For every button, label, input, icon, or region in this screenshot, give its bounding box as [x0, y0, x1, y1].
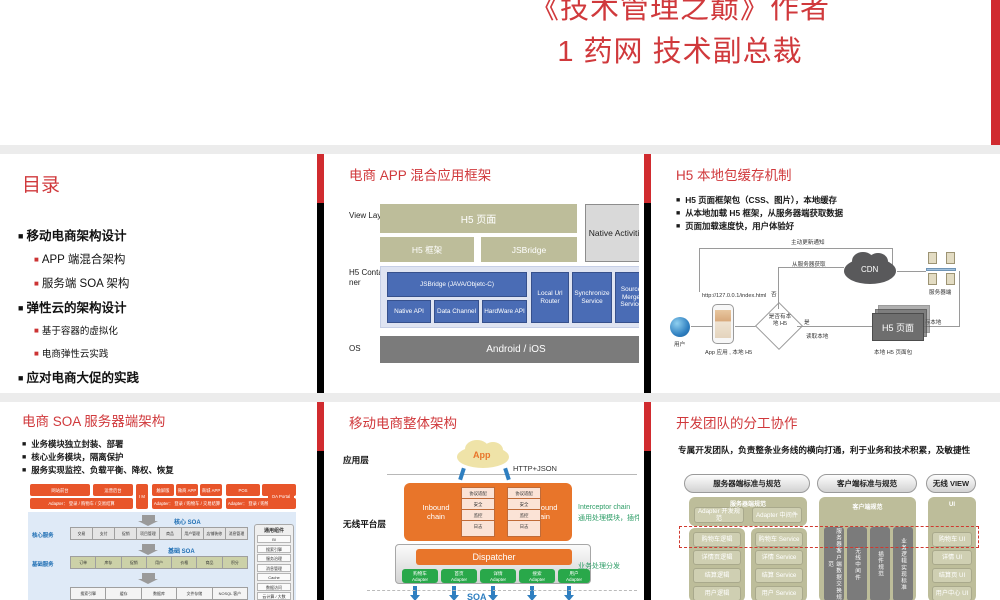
soa-top-box-7[interactable]: POS [226, 484, 260, 496]
slide-deck-overview: 《技术管理之巅》作者 1 药网 技术副总裁 目录 移动电商架构设计 APP 端混… [0, 0, 1000, 600]
inbound-item-2[interactable]: 安全 [462, 499, 494, 510]
item-logic-user[interactable]: 用户逻辑 [693, 586, 741, 600]
soa-core-cells[interactable]: 交易 支付 促销 项目管理 商品 用户管理 店铺装修 消息管理 [70, 527, 248, 540]
toc-item-4[interactable]: 弹性云的架构设计 [18, 296, 139, 320]
base-cell-1[interactable]: 订单 [71, 557, 96, 568]
toc-item-6[interactable]: 电商弹性云实践 [18, 343, 139, 366]
label-server-cluster: 服务器端 [929, 288, 951, 296]
divider-b1-black [317, 451, 324, 600]
line-yes-right [797, 326, 873, 327]
adapter-cart[interactable]: 购物车 Adapter [402, 569, 438, 583]
panel-mobile-overall-architecture[interactable]: 移动电商整体架构 应用层 无线平台层 App HTTP+JSON Inbound… [327, 402, 639, 600]
h5-container-wrap: JSBridge (JAVA/Objetc-C) Native API Data… [380, 266, 639, 328]
soa-row-label-core: 核心服务 [32, 531, 54, 539]
core-cell-7[interactable]: 店铺装修 [204, 528, 226, 539]
inbound-item-4[interactable]: 日志 [462, 521, 494, 532]
label-fetch-server: 从服务器获取 [792, 260, 826, 268]
item-logic-detail[interactable]: 详情页逻辑 [693, 550, 741, 565]
server-icon-2 [946, 252, 955, 264]
divider-a2-black [644, 203, 651, 393]
soa-base-cells[interactable]: 订单 库存 促销 用户 价格 商品 积分 [70, 556, 248, 569]
bottom-cell-1[interactable]: 搜索引擎 [71, 588, 106, 599]
outbound-chain-items[interactable]: 协议适配 安全 监控 日志 [507, 487, 541, 537]
item-logic-checkout[interactable]: 结算逻辑 [693, 568, 741, 583]
base-cell-5[interactable]: 价格 [172, 557, 197, 568]
soa-separator-line [367, 590, 637, 591]
outbound-item-4[interactable]: 日志 [508, 521, 540, 532]
cap-client-standards[interactable]: 客户端标准与规范 [817, 474, 917, 493]
line-server-down [959, 271, 960, 326]
common-component-7[interactable]: 云计算 / 大数 [257, 592, 291, 600]
bracket-left [699, 248, 700, 292]
note-interceptor-en: Interceptor chain [578, 503, 630, 513]
soa-title: 电商 SOA 服务器端架构 [22, 414, 165, 430]
soa-top-box-1[interactable]: 网站前台 [30, 484, 90, 496]
soa-bullet-2: 核心业务模块，隔离保护 [22, 451, 174, 464]
bracket-top [699, 248, 893, 249]
item-adapter-dev-spec[interactable]: Adapter 开发规范 [694, 507, 744, 523]
soa-top-box-5[interactable]: 微商 APP [176, 484, 198, 496]
item-service-detail[interactable]: 详情 Service [755, 550, 803, 565]
soa-top-box-2[interactable]: 运营后台 [93, 484, 133, 496]
label-inbound-chain: Inbound chain [416, 503, 456, 521]
bottom-cell-2[interactable]: 缓存 [106, 588, 141, 599]
bottom-cell-5[interactable]: NOSQL 客户 [213, 588, 247, 599]
label-protocol: HTTP+JSON [513, 464, 557, 473]
divider-b2-black [644, 451, 651, 600]
h5-bullet-3: 页面加载速度快，用户体验好 [676, 220, 843, 233]
soa-arrow-2-head [138, 550, 158, 555]
box-os[interactable]: Android / iOS [380, 336, 639, 363]
box-source-merge-service[interactable]: Source Merge Service [615, 272, 639, 323]
panel-soa-server-architecture[interactable]: 电商 SOA 服务器端架构 业务模块独立封装、部署 核心业务模块，隔离保护 服务… [0, 402, 312, 600]
toc-item-2[interactable]: APP 端混合架构 [18, 248, 139, 272]
base-cell-2[interactable]: 库存 [96, 557, 121, 568]
chain-block[interactable]: Inbound chain Outbound chain 协议适配 安全 监控 … [404, 483, 572, 541]
dispatcher-bar[interactable]: Dispatcher [416, 549, 572, 565]
soa-top-box-9[interactable]: OA Portal [268, 484, 294, 509]
soa-tag-core: 核心 SOA [174, 517, 201, 526]
soa-bullet-1: 业务模块独立封装、部署 [22, 438, 174, 451]
row-gap-bottom [0, 393, 1000, 402]
label-h5-caption: 本地 H5 页面包 [874, 348, 912, 356]
toc-list: 移动电商架构设计 APP 端混合架构 服务端 SOA 架构 弹性云的架构设计 基… [18, 224, 139, 390]
phone-screen [715, 310, 731, 338]
soa-arrow-3-head [138, 579, 158, 584]
h5-cache-bullets: H5 页面框架包（CSS、图片），本地缓存 从本地加载 H5 框架，从服务器端获… [676, 194, 843, 233]
app-cloud-label: App [473, 450, 491, 460]
group-ui [928, 497, 976, 600]
item-service-checkout[interactable]: 结算 Service [755, 568, 803, 583]
note-dispatch: 业务处理分发 [578, 562, 620, 572]
group-title-ui: UI [928, 502, 976, 508]
inbound-chain-items[interactable]: 协议适配 安全 监控 日志 [461, 487, 495, 537]
soa-bullet-3: 服务实现监控、负载平衡、降权、恢复 [22, 464, 174, 477]
hero-text-block: 《技术管理之巅》作者 1 药网 技术副总裁 [420, 0, 940, 74]
base-cell-7[interactable]: 积分 [223, 557, 247, 568]
panel-h5-cache[interactable]: H5 本地包缓存机制 H5 页面框架包（CSS、图片），本地缓存 从本地加载 H… [654, 154, 1000, 393]
item-ui-user-center[interactable]: 用户中心 UI [932, 586, 972, 600]
core-cell-5[interactable]: 商品 [160, 528, 182, 539]
soa-top-box-3[interactable]: I M [136, 484, 148, 509]
h5-bullet-2: 从本地加载 H5 框架，从服务器端获取数据 [676, 207, 843, 220]
hero-line-1: 《技术管理之巅》作者 [420, 0, 940, 31]
toc-item-5[interactable]: 基于容器的虚拟化 [18, 320, 139, 343]
toc-title: 目录 [22, 170, 60, 197]
core-cell-4[interactable]: 项目管理 [137, 528, 159, 539]
soa-arrowhead-2 [449, 595, 459, 600]
soa-top-box-4[interactable]: 触屏版 [152, 484, 174, 496]
divider-b2-red [644, 402, 651, 451]
item-ui-checkout[interactable]: 结算页 UI [932, 568, 972, 583]
hero-accent-bar [991, 0, 1000, 145]
soa-arrowhead-3 [488, 595, 498, 600]
label-app-caption: App 应用 , 本地 H5 [705, 348, 752, 356]
h5-cache-diagram: 主动更新通知 用户 http://127.0.0.1/index.html Ap… [654, 240, 1000, 390]
soa-figure: 网站前台 运营后台 Adapter： 登录 / 购物车 / 交易结算 I M 触… [28, 484, 296, 600]
outbound-item-3[interactable]: 监控 [508, 510, 540, 521]
box-h5-page[interactable]: H5 页面 [380, 204, 577, 233]
hero-line-2: 1 药网 技术副总裁 [420, 31, 940, 74]
divider-a2-red [644, 154, 651, 203]
box-synchronize-service[interactable]: Synchronize Service [572, 272, 612, 323]
label-soa: SOA [467, 592, 487, 600]
row-gap-top [0, 145, 1000, 154]
base-cell-4[interactable]: 用户 [147, 557, 172, 568]
adapter-home[interactable]: 首页 Adapter [441, 569, 477, 583]
inbound-item-1[interactable]: 协议适配 [462, 488, 494, 499]
h5-bullet-1: H5 页面框架包（CSS、图片），本地缓存 [676, 194, 843, 207]
base-cell-6[interactable]: 商品 [197, 557, 222, 568]
hybrid-framework-title: 电商 APP 混合应用框架 [349, 168, 491, 184]
divider-a1-black [317, 203, 324, 393]
highlight-cart-row [679, 526, 979, 548]
label-push-notify: 主动更新通知 [791, 238, 825, 246]
box-h5-framework[interactable]: H5 框架 [380, 237, 474, 262]
bottom-cell-3[interactable]: 数据库 [142, 588, 177, 599]
server-icon-1 [928, 252, 937, 264]
soa-top-box-6[interactable]: 商城 APP [200, 484, 222, 496]
core-cell-8[interactable]: 消息管理 [226, 528, 247, 539]
label-local-url: http://127.0.0.1/index.html [702, 293, 766, 299]
panel-table-of-contents[interactable]: 目录 移动电商架构设计 APP 端混合架构 服务端 SOA 架构 弹性云的架构设… [0, 154, 312, 393]
h5-cache-title: H5 本地包缓存机制 [676, 168, 792, 184]
item-service-user[interactable]: 用户 Service [755, 586, 803, 600]
label-cdn: CDN [861, 265, 878, 274]
item-adapter-middleware[interactable]: Adapter 中间件 [752, 507, 802, 523]
soa-arrowhead-1 [410, 595, 420, 600]
toc-item-3[interactable]: 服务端 SOA 架构 [18, 272, 139, 296]
dispatcher-block[interactable]: Dispatcher 购物车 Adapter 首页 Adapter 详情 Ada… [395, 544, 591, 584]
soa-adapter-1[interactable]: Adapter： 登录 / 购物车 / 交易结算 [30, 498, 133, 509]
common-component-5[interactable]: Cache [257, 573, 291, 581]
common-component-2[interactable]: 搜索引擎 [257, 545, 291, 553]
box-local-url-router[interactable]: Local Url Router [531, 272, 569, 323]
label-user: 用户 [674, 340, 685, 348]
common-component-1[interactable]: Bl [257, 535, 291, 543]
soa-arrowhead-4 [527, 595, 537, 600]
box-hardware-api[interactable]: HardWare API [482, 300, 527, 323]
soa-adapter-2[interactable]: Adapter： 登录 / 购物车 / 交易结算 [152, 498, 222, 509]
toc-item-7[interactable]: 应对电商大促的实践 [18, 366, 139, 390]
hero-slide: 《技术管理之巅》作者 1 药网 技术副总裁 [0, 0, 1000, 145]
base-cell-3[interactable]: 促销 [122, 557, 147, 568]
mobile-overall-title: 移动电商整体架构 [349, 416, 457, 432]
divider-b1-red [317, 402, 324, 451]
common-components-title: 通用组件 [255, 527, 293, 534]
line-cdn-to-server [897, 271, 926, 272]
user-globe-icon [670, 317, 690, 337]
label-app-layer: 应用层 [343, 454, 369, 466]
core-cell-2[interactable]: 支付 [93, 528, 115, 539]
arrow-user-to-app [691, 326, 712, 327]
group-title-client-spec: 客户端规范 [819, 502, 916, 511]
common-component-6[interactable]: 数据访问 [257, 583, 291, 591]
panel-hybrid-app-framework[interactable]: 电商 APP 混合应用框架 View Layer H5 Contai ner O… [327, 154, 639, 393]
h5-page-stack-front[interactable]: H5 页面 [872, 313, 924, 341]
label-branch-no: 否 [771, 290, 777, 298]
adapter-search[interactable]: 搜索 Adapter [519, 569, 555, 583]
soa-tag-base: 基础 SOA [168, 546, 195, 555]
core-cell-3[interactable]: 促销 [115, 528, 137, 539]
box-jsbridge-native[interactable]: JSBridge (JAVA/Objetc-C) [387, 272, 527, 297]
server-icon-3 [928, 273, 937, 285]
bottom-cell-4[interactable]: 文件存储 [177, 588, 212, 599]
cap-server-standards[interactable]: 服务器端标准与规范 [684, 474, 810, 493]
core-cell-1[interactable]: 交易 [71, 528, 93, 539]
server-icon-4 [946, 273, 955, 285]
layer-separator-line [387, 474, 637, 475]
label-wireless-layer: 无线平台层 [343, 518, 386, 530]
note-interceptor-cn: 通用处理模块，插件化 [578, 514, 639, 524]
label-decision: 是否有本地 H5 [767, 314, 793, 328]
box-native-activities[interactable]: Native Activities [585, 204, 639, 262]
phone-icon [712, 304, 734, 344]
divider-a1-red [317, 154, 324, 203]
soa-bullets: 业务模块独立封装、部署 核心业务模块，隔离保护 服务实现监控、负载平衡、降权、恢… [22, 438, 174, 477]
box-jsbridge-view[interactable]: JSBridge [481, 237, 577, 262]
soa-bottom-cells[interactable]: 搜索引擎 缓存 数据库 文件存储 NOSQL 客户 [70, 587, 248, 600]
panel-dev-team-collaboration[interactable]: 开发团队的分工协作 专属开发团队，负责整条业务线的横向打通，利于业务和技术积累，… [654, 402, 1000, 600]
server-rack-bar [926, 268, 956, 271]
soa-common-components[interactable]: 通用组件 Bl 搜索引擎 服务治理 消息管理 Cache 数据访问 云计算 / … [254, 524, 294, 600]
cap-wireless-view[interactable]: 无线 VIEW [926, 474, 976, 493]
outbound-item-1[interactable]: 协议适配 [508, 488, 540, 499]
label-read-local: 读取本地 [806, 332, 828, 340]
box-native-api[interactable]: Native API [387, 300, 431, 323]
dev-team-title: 开发团队的分工协作 [676, 416, 798, 432]
outbound-item-2[interactable]: 安全 [508, 499, 540, 510]
common-component-3[interactable]: 服务治理 [257, 554, 291, 562]
line-no-up [778, 267, 779, 309]
label-branch-yes: 是 [804, 318, 810, 326]
common-component-4[interactable]: 消息管理 [257, 564, 291, 572]
item-ui-detail[interactable]: 详情 UI [932, 550, 972, 565]
soa-row-label-base: 基础服务 [32, 560, 54, 568]
soa-arrowhead-5 [564, 595, 574, 600]
box-data-channel[interactable]: Data Channel [434, 300, 479, 323]
toc-item-1[interactable]: 移动电商架构设计 [18, 224, 139, 248]
inbound-item-3[interactable]: 监控 [462, 510, 494, 521]
soa-arrow-1-head [138, 521, 158, 526]
dev-team-subtitle: 专属开发团队，负责整条业务线的横向打通，利于业务和技术积累，及敏捷性 [678, 444, 970, 456]
adapter-detail[interactable]: 详情 Adapter [480, 569, 516, 583]
core-cell-6[interactable]: 用户管理 [182, 528, 204, 539]
